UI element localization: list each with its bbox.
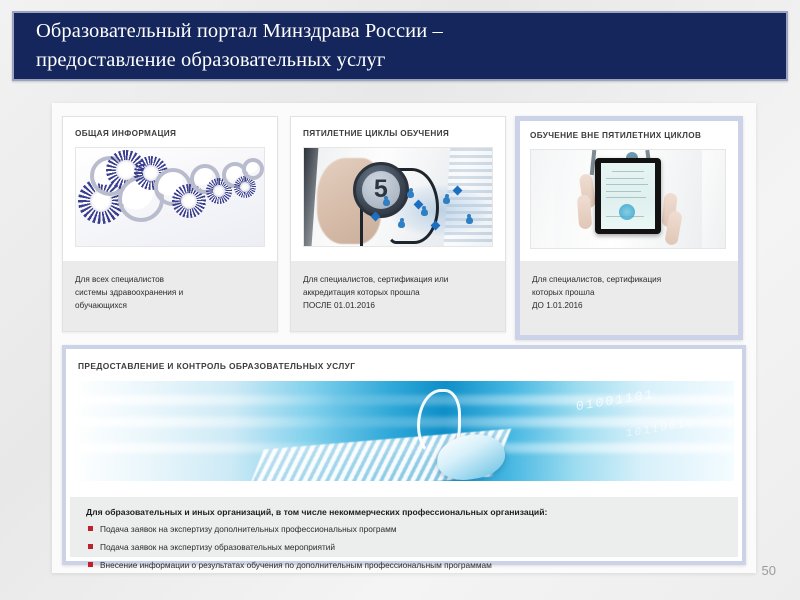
list-item-text: Подача заявок на экспертизу дополнительн… (100, 524, 397, 534)
card-title: ОБУЧЕНИЕ ВНЕ ПЯТИЛЕТНИХ ЦИКЛОВ (530, 130, 730, 141)
bullets-heading: Для образовательных и иных организаций, … (86, 507, 547, 517)
card-caption-text: Для специалистов, сертификация которых п… (532, 273, 730, 312)
card-caption: Для всех специалистов системы здравоохра… (63, 260, 277, 331)
bottom-panel-education-services[interactable]: ПРЕДОСТАВЛЕНИЕ И КОНТРОЛЬ ОБРАЗОВАТЕЛЬНЫ… (62, 345, 746, 565)
list-item-text: Подача заявок на экспертизу образователь… (100, 542, 335, 552)
slide-title-bar: Образовательный портал Минздрава России … (12, 11, 788, 81)
card-general-information[interactable]: ОБЩАЯ ИНФОРМАЦИЯ Для всех специалистов с… (62, 116, 278, 332)
stethoscope-badge: 5 (353, 162, 409, 218)
keyboard-mouse-banner: 01001101 10110010 (74, 381, 734, 482)
list-item-text: Внесение информации о результатах обучен… (100, 560, 492, 570)
card-title: ОБЩАЯ ИНФОРМАЦИЯ (75, 128, 269, 139)
card-title: ПЯТИЛЕТНИЕ ЦИКЛЫ ОБУЧЕНИЯ (303, 128, 497, 139)
bottom-panel-title: ПРЕДОСТАВЛЕНИЕ И КОНТРОЛЬ ОБРАЗОВАТЕЛЬНЫ… (78, 361, 355, 371)
list-item: Подача заявок на экспертизу дополнительн… (86, 524, 728, 534)
doctor-stethoscope-photo: 5 (303, 147, 493, 247)
card-caption: Для специалистов, сертификация которых п… (520, 260, 738, 335)
list-item: Внесение информации о результатах обучен… (86, 560, 728, 570)
page-title: Образовательный портал Минздрава России … (36, 17, 766, 75)
list-item: Подача заявок на экспертизу образователь… (86, 542, 728, 552)
banner-binary-text: 01001101 (576, 387, 654, 414)
card-outside-five-year-cycles[interactable]: ОБУЧЕНИЕ ВНЕ ПЯТИЛЕТНИХ ЦИКЛОВ (515, 116, 743, 340)
gears-photo (75, 147, 265, 247)
card-caption-text: Для специалистов, сертификация или аккре… (303, 273, 497, 312)
badge-number: 5 (362, 171, 400, 209)
bullet-square-icon (88, 526, 93, 531)
page-number: 50 (762, 563, 776, 578)
bullets-area: Для образовательных и иных организаций, … (70, 497, 738, 557)
cards-row: ОБЩАЯ ИНФОРМАЦИЯ Для всех специалистов с… (62, 116, 746, 340)
card-caption: Для специалистов, сертификация или аккре… (291, 260, 505, 331)
card-caption-text: Для всех специалистов системы здравоохра… (75, 273, 269, 312)
card-five-year-cycles[interactable]: ПЯТИЛЕТНИЕ ЦИКЛЫ ОБУЧЕНИЯ 5 (290, 116, 506, 332)
bullet-square-icon (88, 544, 93, 549)
tablet-certificate-photo (530, 149, 726, 249)
bullet-square-icon (88, 562, 93, 567)
bullet-list: Подача заявок на экспертизу дополнительн… (86, 524, 728, 578)
